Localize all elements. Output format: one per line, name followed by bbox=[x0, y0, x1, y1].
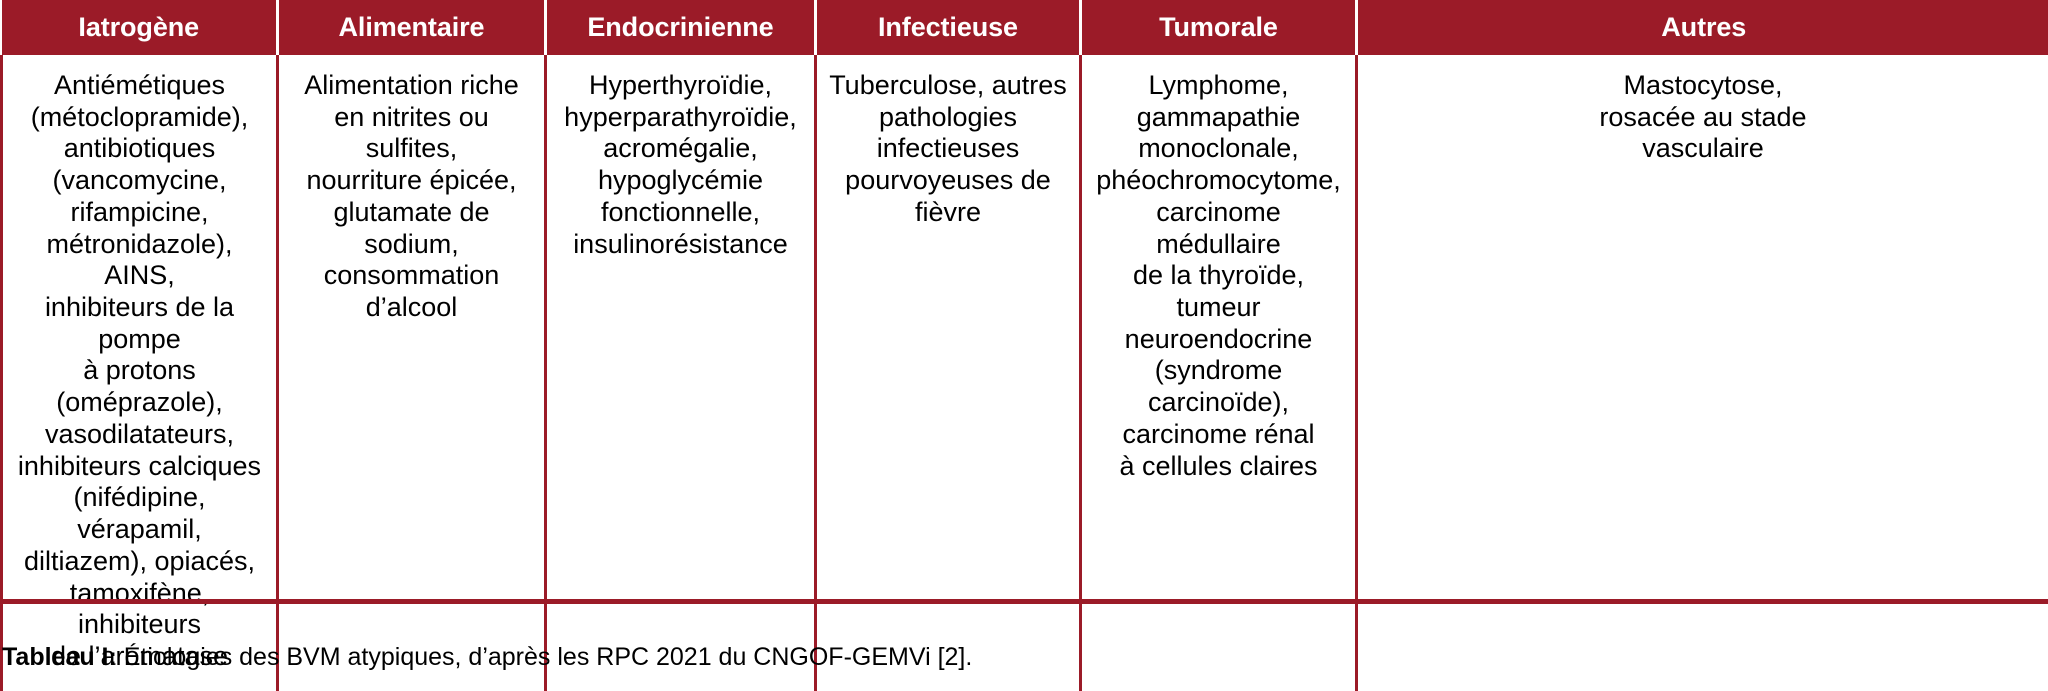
table-cell-autres: Mastocytose, rosacée au stade vasculaire bbox=[1357, 55, 2048, 691]
column-header-alimentaire: Alimentaire bbox=[278, 0, 546, 55]
table-cell-infectieuse: Tuberculose, autres pathologies infectie… bbox=[816, 55, 1081, 691]
table-cell-tumorale: Lymphome, gammapathie monoclonale, phéoc… bbox=[1081, 55, 1357, 691]
cell-text-tumorale: Lymphome, gammapathie monoclonale, phéoc… bbox=[1092, 70, 1345, 482]
etiologies-table-container: Iatrogène Alimentaire Endocrinienne Infe… bbox=[0, 0, 2048, 691]
caption-label: Tableau I: bbox=[2, 643, 117, 671]
cell-text-endocrinienne: Hyperthyroïdie, hyperparathyroïdie, acro… bbox=[557, 70, 804, 260]
table-caption: Tableau I: Étiologies des BVM atypiques,… bbox=[2, 642, 2042, 672]
table-header-row: Iatrogène Alimentaire Endocrinienne Infe… bbox=[2, 0, 2048, 55]
table-row: Antiémétiques (métoclopramide), antibiot… bbox=[2, 55, 2048, 691]
table-cell-alimentaire: Alimentation riche en nitrites ou sulfit… bbox=[278, 55, 546, 691]
table-figure-page: Iatrogène Alimentaire Endocrinienne Infe… bbox=[0, 0, 2048, 687]
column-header-tumorale: Tumorale bbox=[1081, 0, 1357, 55]
table-cell-endocrinienne: Hyperthyroïdie, hyperparathyroïdie, acro… bbox=[546, 55, 816, 691]
table-bottom-rule bbox=[0, 599, 2048, 604]
table-cell-iatrogene: Antiémétiques (métoclopramide), antibiot… bbox=[2, 55, 278, 691]
column-header-infectieuse: Infectieuse bbox=[816, 0, 1081, 55]
table-header-row-group: Iatrogène Alimentaire Endocrinienne Infe… bbox=[2, 0, 2048, 55]
table-body-row-group: Antiémétiques (métoclopramide), antibiot… bbox=[2, 55, 2048, 691]
cell-text-iatrogene: Antiémétiques (métoclopramide), antibiot… bbox=[13, 70, 266, 673]
cell-text-autres: Mastocytose, rosacée au stade vasculaire bbox=[1368, 70, 2038, 165]
cell-text-alimentaire: Alimentation riche en nitrites ou sulfit… bbox=[289, 70, 534, 324]
column-header-iatrogene: Iatrogène bbox=[2, 0, 278, 55]
cell-text-infectieuse: Tuberculose, autres pathologies infectie… bbox=[827, 70, 1069, 229]
column-header-endocrinienne: Endocrinienne bbox=[546, 0, 816, 55]
etiologies-table: Iatrogène Alimentaire Endocrinienne Infe… bbox=[0, 0, 2048, 691]
column-header-autres: Autres bbox=[1357, 0, 2048, 55]
caption-body: Étiologies des BVM atypiques, d’après le… bbox=[117, 643, 972, 671]
